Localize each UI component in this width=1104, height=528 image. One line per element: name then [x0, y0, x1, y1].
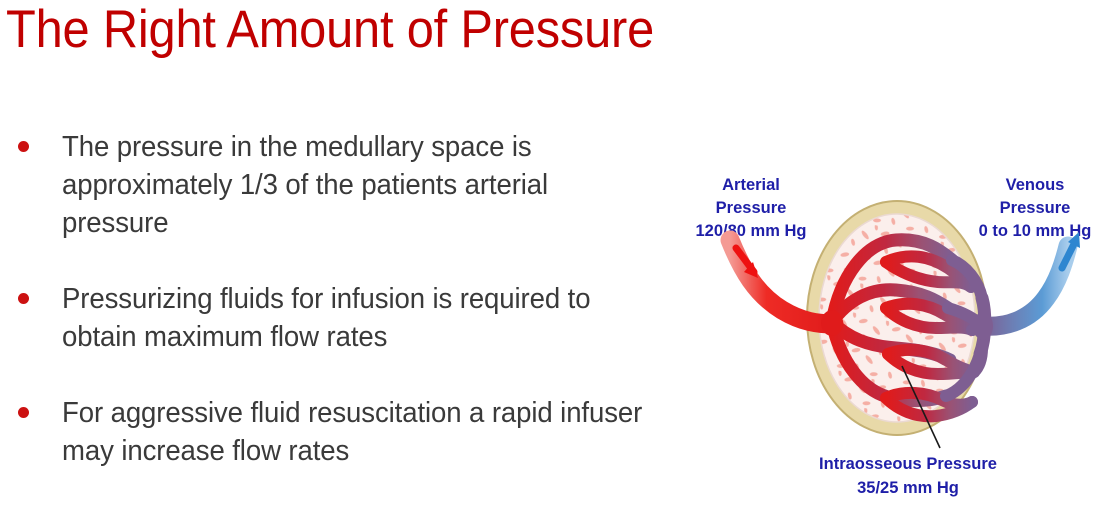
bone-vasculature-diagram: Arterial Pressure 120/80 mm Hg Venous Pr…: [690, 148, 1104, 514]
arterial-label-line2: Pressure: [716, 199, 787, 217]
intraosseous-label-line2: 35/25 mm Hg: [857, 479, 959, 497]
venous-label-line2: Pressure: [1000, 199, 1071, 217]
venous-outflow-vessel: [982, 246, 1068, 326]
list-item: For aggressive fluid resuscitation a rap…: [0, 394, 690, 470]
bullet-dot-icon: [18, 293, 29, 304]
venous-pressure-label: Venous Pressure 0 to 10 mm Hg: [979, 176, 1092, 240]
intraosseous-label-line1: Intraosseous Pressure: [819, 455, 997, 473]
list-item-label: The pressure in the medullary space is a…: [62, 128, 659, 242]
list-item-label: For aggressive fluid resuscitation a rap…: [62, 394, 659, 470]
list-item-label: Pressurizing fluids for infusion is requ…: [62, 280, 659, 356]
bullet-list: The pressure in the medullary space is a…: [0, 128, 690, 508]
list-item: The pressure in the medullary space is a…: [0, 128, 690, 242]
arterial-pressure-label: Arterial Pressure 120/80 mm Hg: [696, 176, 807, 240]
arterial-label-line1: Arterial: [722, 176, 780, 194]
page-title: The Right Amount of Pressure: [6, 0, 834, 62]
intraosseous-pressure-label: Intraosseous Pressure 35/25 mm Hg: [819, 455, 997, 497]
slide-canvas: The Right Amount of Pressure The pressur…: [0, 0, 1104, 528]
venous-hub: [973, 312, 993, 340]
bullet-dot-icon: [18, 141, 29, 152]
bullet-dot-icon: [18, 407, 29, 418]
arterial-hub: [821, 310, 843, 336]
list-item: Pressurizing fluids for infusion is requ…: [0, 280, 690, 356]
venous-label-line1: Venous: [1006, 176, 1065, 194]
arterial-label-line3: 120/80 mm Hg: [696, 222, 807, 240]
